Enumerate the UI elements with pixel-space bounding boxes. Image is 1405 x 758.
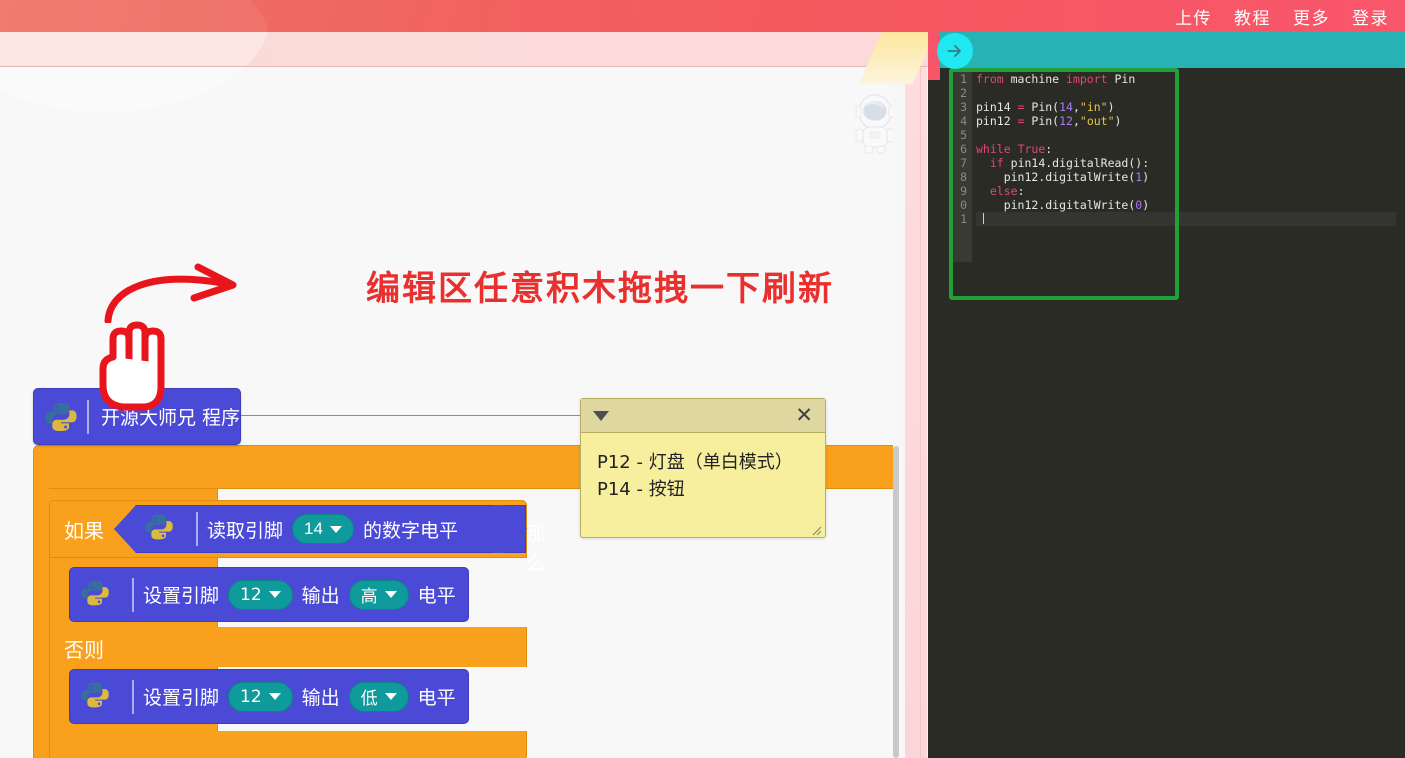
if-branch-spine-bottom [49, 667, 65, 731]
nav-login[interactable]: 登录 [1352, 4, 1389, 29]
if-block-footer [49, 731, 527, 758]
workspace-right-strip [905, 67, 927, 758]
annotation-title: 编辑区任意积木拖拽一下刷新 [366, 261, 834, 310]
block-else-bar[interactable]: 否则 [49, 627, 527, 667]
comment-connector-line [241, 415, 582, 416]
set-pin-low-number-value: 12 [240, 687, 262, 707]
resize-handle-icon[interactable] [810, 523, 822, 535]
block-set-pin-high[interactable]: 设置引脚 12 输出 高 电平 [69, 567, 469, 622]
icon-divider [132, 680, 134, 714]
run-upload-button[interactable] [937, 33, 973, 69]
code-panel-header [928, 32, 1405, 68]
set-pin-low-level-value: 低 [361, 684, 378, 709]
if-label: 如果 [64, 515, 104, 544]
top-header-bar: 上传 教程 更多 登录 [0, 0, 1405, 32]
set-pin-high-level-value: 高 [361, 582, 378, 607]
header-divider [0, 66, 930, 67]
python-icon [44, 400, 78, 434]
set-pin-high-level-dropdown[interactable]: 高 [349, 580, 409, 610]
block-read-pin-digital[interactable]: 读取引脚 14 的数字电平 [114, 505, 526, 553]
read-pin-prefix-label: 读取引脚 [207, 516, 283, 543]
else-label: 否则 [64, 634, 104, 663]
nav-more[interactable]: 更多 [1293, 4, 1330, 29]
comment-title-bar[interactable]: ✕ [581, 399, 825, 433]
comment-line-2: P14 - 按钮 [597, 476, 825, 503]
block-set-pin-low[interactable]: 设置引脚 12 输出 低 电平 [69, 669, 469, 724]
set-pin-high-suffix-label: 电平 [418, 581, 456, 608]
python-icon [80, 680, 114, 714]
chevron-down-icon [269, 693, 281, 700]
top-navigation: 上传 教程 更多 登录 [1175, 0, 1395, 32]
set-pin-high-number-value: 12 [240, 585, 262, 605]
comment-bubble[interactable]: ✕ P12 - 灯盘（单白模式） P14 - 按钮 [580, 398, 826, 538]
code-highlight-frame [949, 68, 1179, 300]
set-pin-low-prefix-label: 设置引脚 [143, 683, 219, 710]
chevron-down-icon [385, 693, 397, 700]
code-panel: 12345678901 from machine import Pin pin1… [928, 32, 1405, 758]
python-icon [144, 512, 178, 546]
chevron-down-icon [330, 526, 342, 533]
workspace-vertical-scrollbar[interactable] [893, 446, 899, 758]
set-pin-low-number-dropdown[interactable]: 12 [228, 682, 293, 712]
comment-line-1: P12 - 灯盘（单白模式） [597, 449, 825, 476]
hand-drawn-arrow-icon [100, 263, 245, 328]
if-branch-spine-top [49, 558, 65, 627]
program-hat-label: 开源大师兄 程序 [101, 403, 240, 430]
chevron-down-icon [269, 591, 281, 598]
blockly-workspace[interactable]: 编辑区任意积木拖拽一下刷新 重复执行 如果 那么 否则 [0, 67, 893, 758]
chevron-down-icon [385, 591, 397, 598]
nav-upload[interactable]: 上传 [1175, 4, 1212, 29]
set-pin-low-level-dropdown[interactable]: 低 [349, 682, 409, 712]
python-icon [80, 578, 114, 612]
header-sub-strip [0, 32, 930, 67]
astronaut-icon [852, 92, 893, 154]
then-label: 那么 [526, 518, 546, 576]
workspace-right-strip-line [920, 67, 921, 758]
set-pin-high-mid-label: 输出 [302, 581, 340, 608]
nav-tutorial[interactable]: 教程 [1234, 4, 1271, 29]
block-program-hat[interactable]: 开源大师兄 程序 [33, 388, 241, 445]
set-pin-low-mid-label: 输出 [302, 683, 340, 710]
icon-divider [196, 512, 198, 546]
set-pin-high-number-dropdown[interactable]: 12 [228, 580, 293, 610]
header-glow-decoration [0, 0, 270, 32]
read-pin-number-value: 14 [304, 519, 323, 539]
chevron-down-icon[interactable] [593, 411, 609, 421]
read-pin-number-dropdown[interactable]: 14 [292, 514, 354, 544]
arrow-right-icon [945, 41, 965, 61]
read-pin-suffix-label: 的数字电平 [363, 516, 458, 543]
icon-divider [132, 578, 134, 612]
set-pin-low-suffix-label: 电平 [418, 683, 456, 710]
set-pin-high-prefix-label: 设置引脚 [143, 581, 219, 608]
comment-body[interactable]: P12 - 灯盘（单白模式） P14 - 按钮 [581, 433, 825, 503]
icon-divider [87, 400, 89, 434]
close-icon[interactable]: ✕ [795, 405, 813, 426]
